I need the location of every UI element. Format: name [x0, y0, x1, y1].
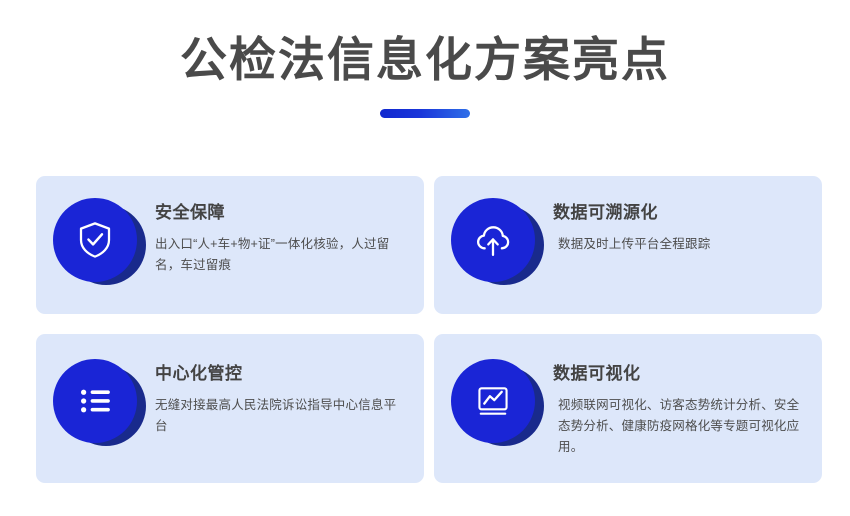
card-description: 数据及时上传平台全程跟踪	[553, 234, 802, 255]
card-description: 无缝对接最高人民法院诉讼指导中心信息平台	[155, 395, 404, 436]
card-description: 出入口“人+车+物+证”一体化核验，人过留名，车过留痕	[155, 234, 404, 275]
chart-monitor-icon	[472, 380, 514, 422]
feature-card-centralized-control[interactable]: 中心化管控 无缝对接最高人民法院诉讼指导中心信息平台	[36, 334, 424, 483]
icon-badge	[451, 359, 541, 449]
icon-circle	[53, 198, 137, 282]
icon-badge	[53, 359, 143, 449]
card-body: 数据可溯源化 数据及时上传平台全程跟踪	[553, 198, 802, 255]
page-header: 公检法信息化方案亮点	[0, 0, 850, 118]
card-body: 安全保障 出入口“人+车+物+证”一体化核验，人过留名，车过留痕	[155, 198, 404, 276]
card-title: 数据可溯源化	[553, 203, 802, 223]
feature-card-data-visualization[interactable]: 数据可视化 视频联网可视化、访客态势统计分析、安全态势分析、健康防疫网格化等专题…	[434, 334, 822, 483]
list-bullets-icon	[74, 380, 116, 422]
card-body: 数据可视化 视频联网可视化、访客态势统计分析、安全态势分析、健康防疫网格化等专题…	[553, 359, 802, 457]
title-underline-bar	[380, 109, 470, 118]
page-title: 公检法信息化方案亮点	[0, 34, 850, 87]
feature-card-security[interactable]: 安全保障 出入口“人+车+物+证”一体化核验，人过留名，车过留痕	[36, 176, 424, 314]
shield-check-icon	[74, 219, 116, 261]
card-title: 中心化管控	[155, 364, 404, 384]
card-title: 安全保障	[155, 203, 404, 223]
card-title: 数据可视化	[553, 364, 802, 384]
feature-card-grid: 安全保障 出入口“人+车+物+证”一体化核验，人过留名，车过留痕 数据可溯源化 …	[36, 176, 822, 483]
feature-card-data-traceability[interactable]: 数据可溯源化 数据及时上传平台全程跟踪	[434, 176, 822, 314]
infographic-page: 公检法信息化方案亮点 安全保障 出入口“人+车+物+证”一体化核验，人过留名，车…	[0, 0, 850, 516]
card-description: 视频联网可视化、访客态势统计分析、安全态势分析、健康防疫网格化等专题可视化应用。	[553, 395, 802, 457]
icon-circle	[451, 359, 535, 443]
icon-badge	[53, 198, 143, 288]
icon-circle	[53, 359, 137, 443]
icon-circle	[451, 198, 535, 282]
card-body: 中心化管控 无缝对接最高人民法院诉讼指导中心信息平台	[155, 359, 404, 437]
icon-badge	[451, 198, 541, 288]
cloud-upload-icon	[472, 219, 514, 261]
